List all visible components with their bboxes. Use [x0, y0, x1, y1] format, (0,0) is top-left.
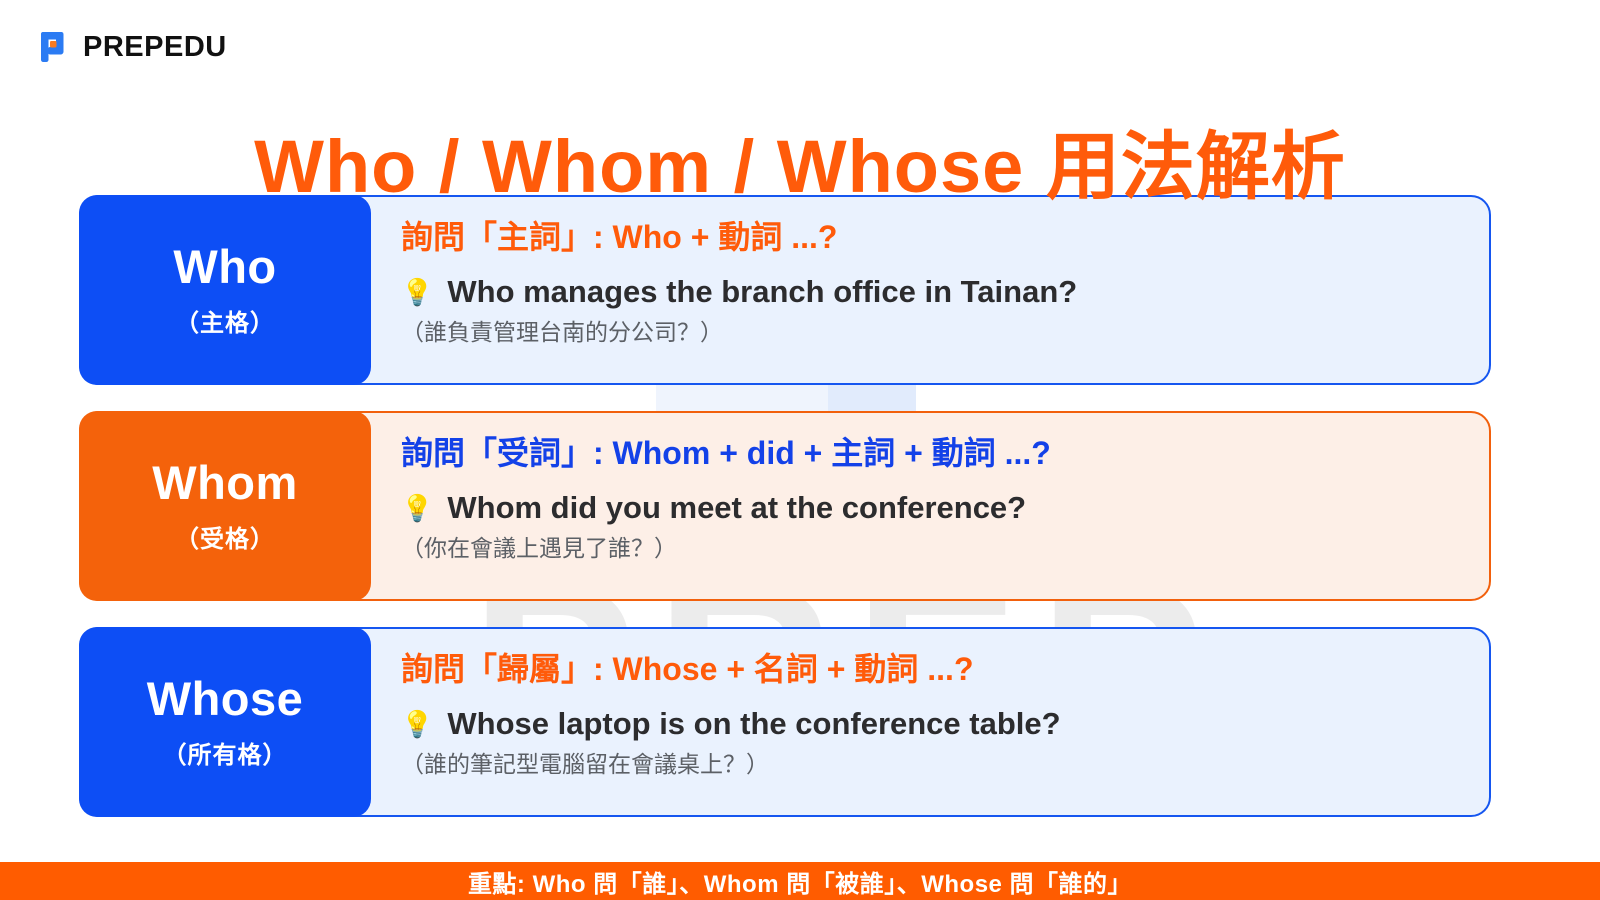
case-panel-who: Who （主格）: [79, 195, 371, 385]
example-sentence: Who manages the branch office in Tainan?: [447, 275, 1077, 309]
rule-row-whose: Whose （所有格） 詢問「歸屬」: Whose + 名詞 + 動詞 ...?…: [79, 627, 1491, 817]
example-translation: （誰的筆記型電腦留在會議桌上？）: [401, 751, 1461, 779]
example-sentence: Whom did you meet at the conference?: [447, 491, 1026, 525]
lightbulb-icon: 💡: [401, 711, 433, 737]
footer-summary-text: 重點: Who 問「誰」、Whom 問「被誰」、Whose 問「誰的」: [468, 864, 1132, 899]
case-panel-whom: Whom （受格）: [79, 411, 371, 601]
pattern-line: 詢問「歸屬」: Whose + 名詞 + 動詞 ...?: [401, 651, 1461, 688]
example-translation: （你在會議上遇見了誰？）: [401, 535, 1461, 563]
example-line: 💡 Who manages the branch office in Taina…: [401, 275, 1461, 309]
lightbulb-icon: 💡: [401, 279, 433, 305]
case-subtitle: （所有格）: [163, 735, 288, 770]
example-line: 💡 Whom did you meet at the conference?: [401, 491, 1461, 525]
case-word: Who: [173, 242, 276, 291]
rule-content-whose: 詢問「歸屬」: Whose + 名詞 + 動詞 ...? 💡 Whose lap…: [371, 629, 1489, 815]
rule-row-who: Who （主格） 詢問「主詞」: Who + 動詞 ...? 💡 Who man…: [79, 195, 1491, 385]
pattern-line: 詢問「受詞」: Whom + did + 主詞 + 動詞 ...?: [401, 435, 1461, 472]
example-line: 💡 Whose laptop is on the conference tabl…: [401, 707, 1461, 741]
rules-list: Who （主格） 詢問「主詞」: Who + 動詞 ...? 💡 Who man…: [79, 195, 1491, 843]
case-word: Whom: [152, 458, 298, 507]
example-translation: （誰負責管理台南的分公司？）: [401, 319, 1461, 347]
lightbulb-icon: 💡: [401, 495, 433, 521]
case-word: Whose: [147, 674, 304, 723]
pattern-line: 詢問「主詞」: Who + 動詞 ...?: [401, 219, 1461, 256]
rule-content-whom: 詢問「受詞」: Whom + did + 主詞 + 動詞 ...? 💡 Whom…: [371, 413, 1489, 599]
rule-row-whom: Whom （受格） 詢問「受詞」: Whom + did + 主詞 + 動詞 .…: [79, 411, 1491, 601]
brand-name: PREPEDU: [83, 31, 227, 64]
rule-content-who: 詢問「主詞」: Who + 動詞 ...? 💡 Who manages the …: [371, 197, 1489, 383]
case-subtitle: （主格）: [175, 303, 275, 338]
case-panel-whose: Whose （所有格）: [79, 627, 371, 817]
case-subtitle: （受格）: [175, 519, 275, 554]
page-title: Who / Whom / Whose 用法解析: [0, 128, 1600, 206]
brand-logo: PREPEDU: [40, 30, 227, 64]
prepedu-bracket-logo-icon: [40, 30, 74, 64]
footer-bar: 重點: Who 問「誰」、Whom 問「被誰」、Whose 問「誰的」: [0, 862, 1600, 900]
example-sentence: Whose laptop is on the conference table?: [447, 707, 1060, 741]
